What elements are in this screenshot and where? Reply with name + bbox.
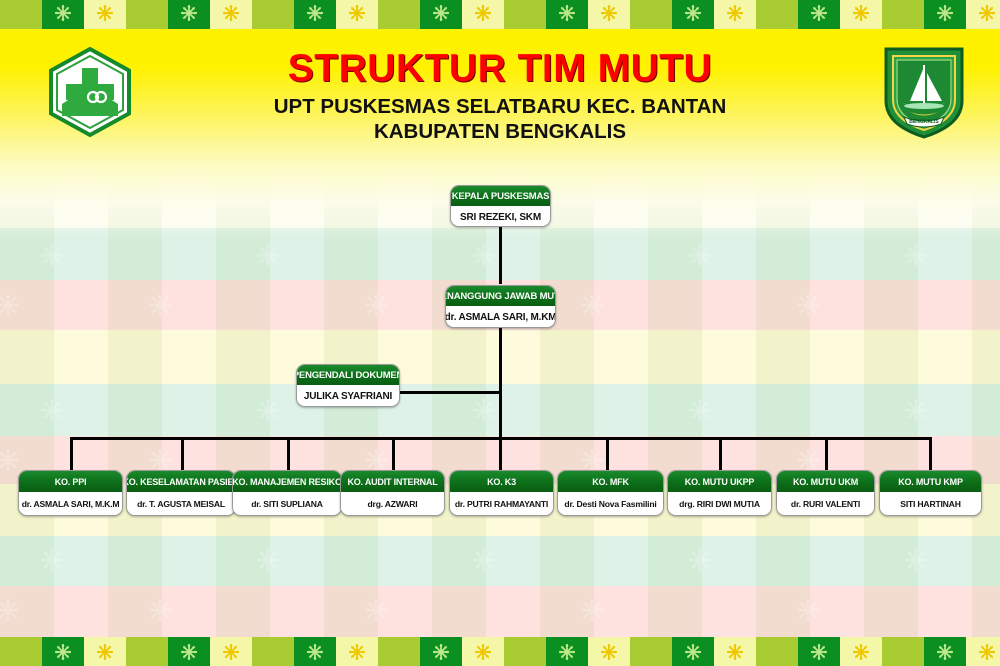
connector-trunk [499,328,502,440]
node-person: dr. RURI VALENTI [777,492,874,515]
node-role: KO. KESELAMATAN PASIEN [127,471,235,492]
node-person: SITI HARTINAH [880,492,981,515]
connector-drop [287,437,290,470]
poster-canvas: STRUKTUR TIM MUTU UPT PUSKESMAS SELATBAR… [0,0,1000,666]
node-role: KO. AUDIT INTERNAL [341,471,444,492]
connector-drop [70,437,73,470]
node-ko-audit-internal[interactable]: KO. AUDIT INTERNAL drg. AZWARI [340,470,445,516]
connector-vertical [499,226,502,284]
node-role: KO. MUTU UKM [777,471,874,492]
node-role: KO. MUTU UKPP [668,471,771,492]
connector-drop [392,437,395,470]
node-person: drg. AZWARI [341,492,444,515]
node-role: KO. MANAJEMEN RESIKO [233,471,341,492]
node-person: JULIKA SYAFRIANI [297,385,399,407]
node-ko-keselamatan-pasien[interactable]: KO. KESELAMATAN PASIEN dr. T. AGUSTA MEI… [126,470,236,516]
connector-drop [181,437,184,470]
node-ko-manajemen-resiko[interactable]: KO. MANAJEMEN RESIKO dr. SITI SUPLIANA [232,470,342,516]
node-ko-k3[interactable]: KO. K3 dr. PUTRI RAHMAYANTI [449,470,554,516]
node-person: dr. SITI SUPLIANA [233,492,341,515]
connector-drop [606,437,609,470]
node-role: PENANGGUNG JAWAB MUTU [446,286,555,306]
node-role: PENGENDALI DOKUMEN [297,365,399,385]
connector-drop [929,437,932,470]
node-ko-mutu-ukpp[interactable]: KO. MUTU UKPP drg. RIRI DWI MUTIA [667,470,772,516]
node-person: SRI REZEKI, SKM [451,206,550,227]
node-role: KO. MFK [558,471,663,492]
node-person: dr. Desti Nova Fasmilini [558,492,663,515]
node-ko-mfk[interactable]: KO. MFK dr. Desti Nova Fasmilini [557,470,664,516]
node-person: dr. ASMALA SARI, M.KM [446,306,555,328]
node-role: KEPALA PUSKESMAS [451,186,550,206]
org-chart: KEPALA PUSKESMAS SRI REZEKI, SKM PENANGG… [0,0,1000,666]
node-kepala-puskesmas[interactable]: KEPALA PUSKESMAS SRI REZEKI, SKM [450,185,551,227]
node-pengendali-dokumen[interactable]: PENGENDALI DOKUMEN JULIKA SYAFRIANI [296,364,400,407]
connector-branch-pengendali [396,391,501,394]
node-penanggung-jawab-mutu[interactable]: PENANGGUNG JAWAB MUTU dr. ASMALA SARI, M… [445,285,556,328]
node-person: dr. ASMALA SARI, M.K.M [19,492,122,515]
connector-drop [499,437,502,470]
node-person: dr. PUTRI RAHMAYANTI [450,492,553,515]
connector-drop [719,437,722,470]
connector-drop [825,437,828,470]
node-ko-ppi[interactable]: KO. PPI dr. ASMALA SARI, M.K.M [18,470,123,516]
node-role: KO. PPI [19,471,122,492]
node-role: KO. MUTU KMP [880,471,981,492]
node-ko-mutu-ukm[interactable]: KO. MUTU UKM dr. RURI VALENTI [776,470,875,516]
node-role: KO. K3 [450,471,553,492]
node-person: drg. RIRI DWI MUTIA [668,492,771,515]
node-ko-mutu-kmp[interactable]: KO. MUTU KMP SITI HARTINAH [879,470,982,516]
node-person: dr. T. AGUSTA MEISAL [127,492,235,515]
